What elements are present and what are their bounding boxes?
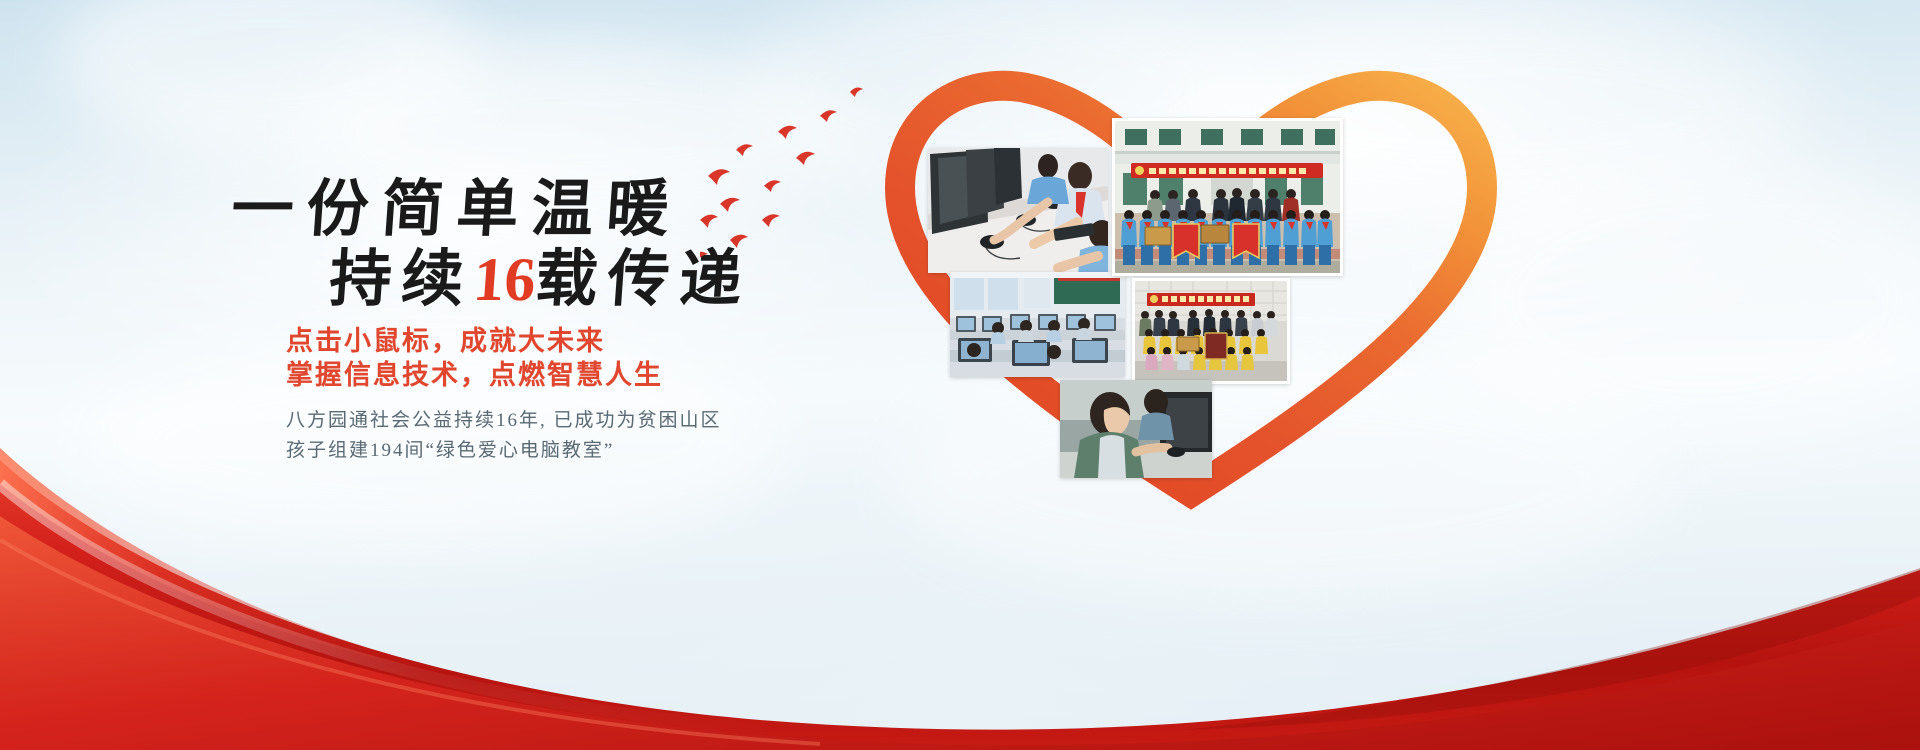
- subtitle-line-2: 掌握信息技术，点燃智慧人生: [286, 358, 663, 392]
- headline-line-2-prefix: 持续: [327, 246, 476, 314]
- subtitle-line-1: 点击小鼠标，成就大未来: [286, 324, 663, 358]
- body-line-1: 八方园通社会公益持续16年, 已成功为贫困山区: [286, 406, 722, 436]
- charity-banner: 一份简单温暖 持续16载传递 点击小鼠标，成就大未来 掌握信息技术，点燃智慧人生…: [0, 0, 1920, 750]
- photo-children-at-computers: [928, 148, 1108, 273]
- subtitle-group: 点击小鼠标，成就大未来 掌握信息技术，点燃智慧人生: [286, 324, 663, 392]
- headline-line-2: 持续16载传递: [327, 228, 755, 318]
- photo-donation-ceremony-school: [1112, 118, 1343, 276]
- photo-computer-classroom-wide: [950, 272, 1125, 377]
- body-line-2: 孩子组建194间“绿色爱心电脑教室”: [286, 436, 722, 466]
- photo-donation-ceremony-indoor: [1132, 278, 1290, 384]
- photo-student-using-computer: [1060, 380, 1212, 478]
- body-text-group: 八方园通社会公益持续16年, 已成功为贫困山区 孩子组建194间“绿色爱心电脑教…: [286, 406, 722, 466]
- headline-year-count: 16: [471, 246, 538, 314]
